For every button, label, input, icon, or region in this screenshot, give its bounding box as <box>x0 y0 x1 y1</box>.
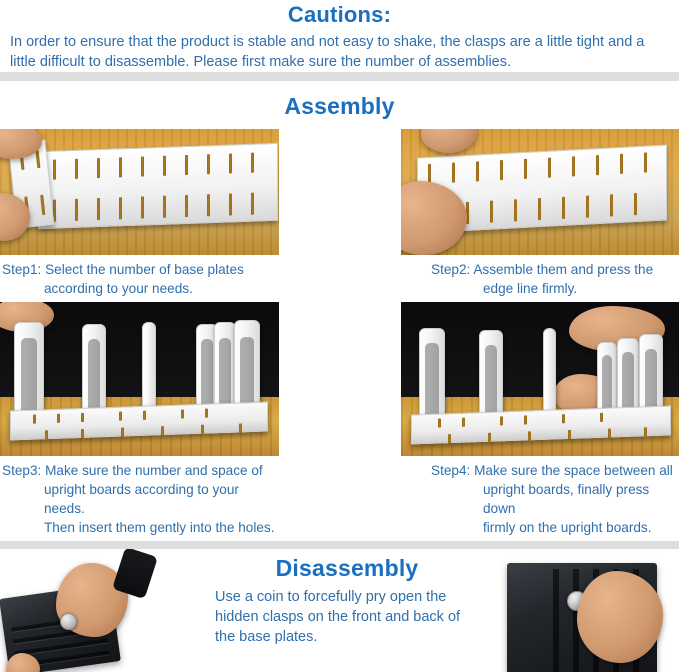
base-plate-main <box>38 143 278 229</box>
coin-icon <box>60 613 77 630</box>
step1-caption: Step1: Select the number of base plates … <box>0 255 279 302</box>
cautions-section: Cautions: In order to ensure that the pr… <box>0 0 679 72</box>
grid-gutter <box>279 302 401 456</box>
upright-board <box>479 330 503 420</box>
upright-board <box>142 322 156 414</box>
upright-board <box>14 322 44 418</box>
step4-caption-line1: Step4: Make sure the space between all <box>431 461 675 480</box>
hand-icon <box>577 571 663 663</box>
instruction-page: Cautions: In order to ensure that the pr… <box>0 0 679 672</box>
step4-caption-line3: firmly on the upright boards. <box>431 518 675 537</box>
disassembly-section: Disassembly Use a coin to forcefully pry… <box>0 549 679 672</box>
disassembly-title: Disassembly <box>205 553 489 583</box>
assembly-section: Assembly <box>0 81 679 541</box>
step3-caption-line2: upright boards according to your needs. <box>2 480 275 518</box>
assembly-title: Assembly <box>0 81 679 129</box>
separator-bar-top <box>0 72 679 81</box>
step3-caption: Step3: Make sure the number and space of… <box>0 456 279 541</box>
step1-caption-line2: according to your needs. <box>2 279 275 298</box>
step4-caption-line2: upright boards, finally press down <box>431 480 675 518</box>
separator-bar-bottom <box>0 541 679 549</box>
grid-gutter <box>279 255 401 302</box>
step2-caption-line1: Step2: Assemble them and press the <box>431 260 675 279</box>
step2-photo <box>401 129 679 255</box>
plate-slot-group <box>39 144 277 228</box>
upright-board <box>82 324 106 414</box>
cautions-title: Cautions: <box>0 2 679 28</box>
step4-caption: Step4: Make sure the space between all u… <box>401 456 679 541</box>
disassembly-text-block: Disassembly Use a coin to forcefully pry… <box>205 549 489 672</box>
disassembly-body-text: Use a coin to forcefully pry open the hi… <box>205 583 489 647</box>
assembly-grid: Step1: Select the number of base plates … <box>0 129 679 541</box>
step1-photo <box>0 129 279 255</box>
step3-caption-line1: Step3: Make sure the number and space of <box>2 461 275 480</box>
step1-caption-line1: Step1: Select the number of base plates <box>2 260 275 279</box>
upright-board <box>419 328 445 420</box>
step3-caption-line3: Then insert them gently into the holes. <box>2 518 275 537</box>
disassembly-right-photo <box>489 549 679 672</box>
step3-photo <box>0 302 279 456</box>
step2-caption-line2: edge line firmly. <box>431 279 675 298</box>
disassembly-left-photo <box>0 549 205 672</box>
step4-photo <box>401 302 679 456</box>
upright-board <box>543 328 556 420</box>
grid-gutter <box>279 129 401 255</box>
grid-gutter <box>279 456 401 541</box>
cautions-body-text: In order to ensure that the product is s… <box>0 28 679 72</box>
step2-caption: Step2: Assemble them and press the edge … <box>401 255 679 302</box>
